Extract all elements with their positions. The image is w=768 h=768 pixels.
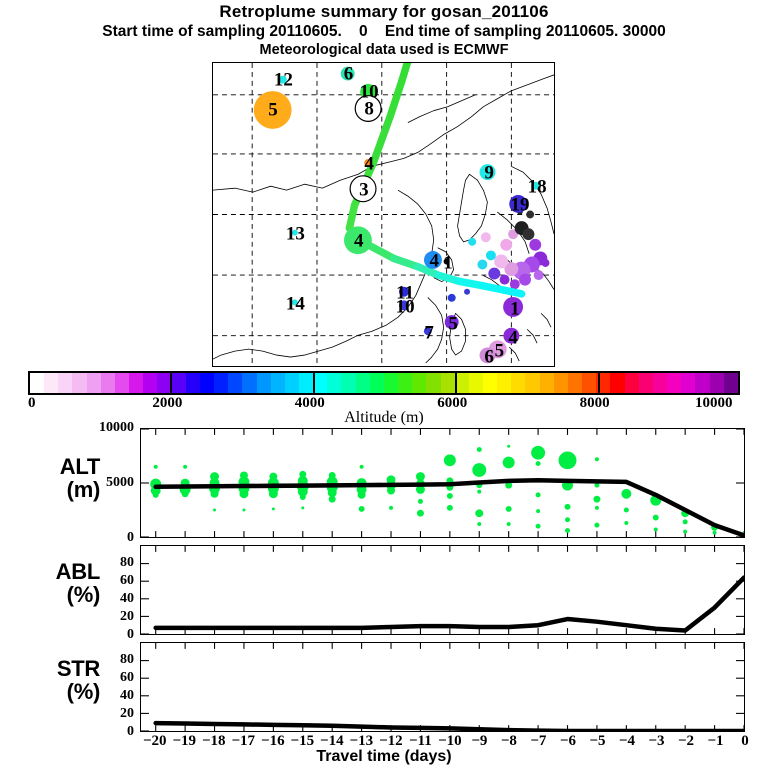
- x-axis-title: Travel time (days): [0, 748, 768, 766]
- x-axis-tick-label: −20: [143, 734, 167, 749]
- meteorological-data-line: Meteorological data used is ECMWF: [0, 41, 768, 59]
- colorbar-major-separator: [170, 371, 172, 395]
- colorbar-swatch: [625, 373, 639, 393]
- alt-y-tick-label: 5000: [78, 476, 134, 490]
- x-axis-tick-label: −2: [678, 734, 694, 749]
- str-x-ticks: [156, 643, 744, 731]
- alt-bubble: [536, 492, 541, 497]
- colorbar-swatch: [72, 373, 86, 393]
- alt-bubble: [593, 496, 600, 503]
- colorbar-swatch: [186, 373, 200, 393]
- colorbar-swatch: [143, 373, 157, 393]
- trajectory-segment: [394, 258, 418, 266]
- colorbar-swatch: [511, 373, 525, 393]
- colorbar-swatch: [497, 373, 511, 393]
- colorbar-swatch: [384, 373, 398, 393]
- str-y-tick-label: 0: [78, 725, 134, 739]
- alt-bubble: [654, 527, 658, 531]
- alt-bubble: [624, 521, 628, 525]
- map-marker-label: 14: [286, 294, 305, 313]
- colorbar-swatch: [285, 373, 299, 393]
- alt-bubble: [213, 509, 216, 512]
- alt-bubble: [506, 506, 512, 512]
- colorbar-swatch: [554, 373, 568, 393]
- colorbar-swatch: [710, 373, 724, 393]
- alt-bubble: [211, 490, 219, 498]
- map-marker-label: 5: [495, 342, 505, 361]
- plume-particle: [464, 289, 470, 295]
- header-block: Retroplume summary for gosan_201106 Star…: [0, 2, 768, 59]
- map-marker-label: 19: [510, 195, 529, 214]
- alt-bubble: [475, 509, 483, 517]
- plume-particle: [522, 228, 534, 240]
- colorbar-swatch: [228, 373, 242, 393]
- alt-bubble: [269, 489, 278, 498]
- colorbar-swatch: [101, 373, 115, 393]
- colorbar-swatch: [299, 373, 313, 393]
- plume-particle: [494, 255, 508, 269]
- colorbar-swatch: [667, 373, 681, 393]
- str-y-tick-label: 40: [78, 689, 134, 703]
- abl-y-tick-label: 20: [78, 610, 134, 624]
- alt-bubble: [621, 489, 631, 499]
- colorbar-swatch: [115, 373, 129, 393]
- sampling-time-line: Start time of sampling 20110605. 0 End t…: [0, 22, 768, 41]
- alt-bubble: [182, 490, 189, 497]
- colorbar-swatch: [257, 373, 271, 393]
- plume-particle: [477, 260, 487, 270]
- alt-bubble: [358, 491, 366, 499]
- colorbar-swatch: [525, 373, 539, 393]
- colorbar-major-separator: [313, 371, 315, 395]
- abl-line: [156, 578, 744, 631]
- alt-y-tick-label: 10000: [78, 421, 134, 435]
- altitude-colorbar[interactable]: [28, 371, 740, 395]
- map-marker-label: 7: [424, 323, 434, 342]
- alt-chart-canvas: [141, 429, 744, 537]
- colorbar-swatch: [412, 373, 426, 393]
- abl-timeseries-panel[interactable]: [140, 545, 745, 635]
- retroplume-map[interactable]: 1261085918431944111101754561314: [212, 62, 555, 367]
- alt-bubble: [595, 457, 599, 461]
- alt-bubble: [477, 522, 481, 526]
- x-axis-tick-label: −17: [232, 734, 256, 749]
- alt-bubble: [239, 489, 248, 498]
- colorbar-swatch: [724, 373, 738, 393]
- x-axis-tick-label: −12: [379, 734, 403, 749]
- plume-particle: [534, 270, 544, 280]
- plume-particle: [500, 275, 510, 285]
- colorbar-swatch: [469, 373, 483, 393]
- alt-bubble: [536, 461, 541, 466]
- colorbar-swatch: [313, 373, 327, 393]
- colorbar-major-separator: [598, 371, 600, 395]
- alt-bubble: [559, 451, 577, 469]
- colorbar-swatch: [582, 373, 596, 393]
- x-axis-tick-label: −14: [320, 734, 344, 749]
- abl-x-ticks: [156, 546, 744, 634]
- alt-bubble: [154, 465, 158, 469]
- alt-bubble: [507, 522, 511, 526]
- x-axis-tick-label: −7: [530, 734, 546, 749]
- alt-bubble: [472, 463, 486, 477]
- alt-bubble: [301, 506, 304, 509]
- colorbar-swatch: [214, 373, 228, 393]
- alt-bubble: [359, 506, 365, 512]
- map-marker-label: 18: [528, 177, 547, 196]
- alt-bubble: [565, 517, 570, 522]
- map-marker-label: 4: [364, 154, 374, 173]
- trajectory-segment: [505, 290, 522, 294]
- alt-bubble: [300, 494, 306, 500]
- str-chart-canvas: [141, 643, 744, 731]
- x-axis-tick-label: −11: [409, 734, 432, 749]
- trajectory-segment: [390, 80, 402, 116]
- colorbar-swatch: [271, 373, 285, 393]
- plume-particle: [448, 294, 456, 302]
- alt-bubble: [417, 510, 424, 517]
- alt-bubble: [653, 515, 659, 521]
- colorbar-swatch: [87, 373, 101, 393]
- map-marker-label: 10: [396, 298, 415, 317]
- alt-bubble: [595, 506, 599, 510]
- alt-bubble: [565, 504, 571, 510]
- map-marker-label: 4: [429, 252, 439, 271]
- plume-particle: [500, 239, 512, 251]
- alt-bubble: [477, 447, 482, 452]
- alt-bubble: [507, 445, 510, 448]
- colorbar-swatch: [483, 373, 497, 393]
- colorbar-swatch: [44, 373, 58, 393]
- str-y-tick-label: 60: [78, 671, 134, 685]
- alt-bubble: [531, 446, 545, 460]
- colorbar-swatch: [695, 373, 709, 393]
- map-marker-label: 12: [274, 70, 293, 89]
- str-y-tick-label: 80: [78, 653, 134, 667]
- colorbar-swatch: [30, 373, 44, 393]
- alt-bubble: [360, 465, 364, 469]
- alt-bubble: [594, 523, 599, 528]
- map-marker-label: 13: [286, 224, 305, 243]
- alt-bubble: [683, 519, 688, 524]
- colorbar-swatch: [341, 373, 355, 393]
- colorbar-swatch: [58, 373, 72, 393]
- x-axis-tick-label: −9: [471, 734, 487, 749]
- plume-particle: [481, 232, 491, 242]
- map-marker-label: 3: [359, 180, 369, 199]
- colorbar-swatch: [568, 373, 582, 393]
- x-axis-tick-label: −5: [589, 734, 605, 749]
- alt-bubble: [183, 465, 187, 469]
- colorbar-swatch: [653, 373, 667, 393]
- x-axis-tick-label: −1: [707, 734, 723, 749]
- alt-bubble: [536, 509, 540, 513]
- alt-bubble: [503, 457, 515, 469]
- colorbar-swatch: [172, 373, 186, 393]
- alt-bubble-layer: [150, 445, 744, 536]
- alt-bubble: [272, 507, 275, 510]
- plume-particle: [541, 259, 549, 267]
- alt-bubble: [153, 492, 159, 498]
- map-marker-label: 5: [448, 314, 458, 333]
- plume-particle: [468, 238, 476, 246]
- x-axis-tick-label: −19: [172, 734, 196, 749]
- plume-particle: [510, 279, 520, 289]
- map-marker-label: 5: [268, 101, 278, 120]
- colorbar-swatch: [129, 373, 143, 393]
- x-axis-tick-label: −18: [202, 734, 226, 749]
- alt-bubble: [387, 487, 395, 495]
- x-axis-tick-label: −13: [350, 734, 374, 749]
- colorbar-swatch: [398, 373, 412, 393]
- str-y-ticks: [141, 661, 744, 731]
- alt-bubble: [447, 493, 453, 499]
- map-marker-label: 6: [484, 348, 494, 367]
- map-marker-label: 1: [510, 299, 520, 318]
- marker-circle-layer: [254, 67, 539, 364]
- map-marker-label: 8: [364, 99, 374, 118]
- abl-y-ticks: [141, 564, 744, 634]
- colorbar-swatch: [681, 373, 695, 393]
- alt-y-tick-label: 0: [78, 531, 134, 545]
- x-axis-tick-label: −10: [438, 734, 462, 749]
- plume-particle: [488, 268, 500, 280]
- map-marker-label: 4: [354, 232, 364, 251]
- x-axis-tick-label: −16: [261, 734, 285, 749]
- map-marker-label: 6: [344, 64, 354, 83]
- map-marker-label: 4: [508, 328, 518, 347]
- colorbar-swatch: [200, 373, 214, 393]
- abl-chart-canvas: [141, 546, 744, 634]
- plume-particle: [486, 250, 496, 260]
- altitude-timeseries-panel[interactable]: [140, 428, 745, 538]
- trajectory-segment: [368, 245, 394, 259]
- colorbar-swatch: [356, 373, 370, 393]
- colorbar-swatch: [370, 373, 384, 393]
- x-axis-tick-label: 0: [741, 734, 749, 749]
- alt-bubble: [329, 496, 336, 503]
- colorbar-major-separator: [455, 371, 457, 395]
- alt-bubble: [447, 505, 453, 511]
- x-axis-tick-label: −3: [648, 734, 664, 749]
- abl-y-tick-label: 60: [78, 574, 134, 588]
- alt-bubble: [418, 499, 423, 504]
- alt-bubble: [536, 524, 541, 529]
- alt-bubble: [713, 531, 717, 535]
- plume-particle: [529, 239, 541, 251]
- alt-bubble: [444, 454, 456, 466]
- colorbar-swatch: [426, 373, 440, 393]
- alt-label-line1: ALT: [8, 455, 100, 478]
- alt-bubble: [624, 508, 629, 513]
- colorbar-gradient: [28, 371, 740, 395]
- str-timeseries-panel[interactable]: [140, 642, 745, 732]
- x-axis-tick-label: −8: [501, 734, 517, 749]
- abl-y-tick-label: 40: [78, 592, 134, 606]
- colorbar-swatch: [327, 373, 341, 393]
- colorbar-swatch: [610, 373, 624, 393]
- colorbar-swatch: [441, 373, 455, 393]
- alt-bubble: [389, 506, 393, 510]
- alt-bubble: [683, 530, 687, 534]
- map-marker-label: 9: [484, 163, 494, 182]
- alt-bubble: [565, 528, 570, 533]
- x-axis-tick-label: −4: [619, 734, 635, 749]
- map-canvas: [213, 63, 554, 366]
- colorbar-swatch: [242, 373, 256, 393]
- plume-particle: [519, 274, 531, 286]
- alt-bubble: [477, 490, 481, 494]
- x-axis-tick-label: −6: [560, 734, 576, 749]
- page-title: Retroplume summary for gosan_201106: [0, 2, 768, 22]
- colorbar-swatch: [639, 373, 653, 393]
- str-y-tick-label: 20: [78, 707, 134, 721]
- alt-bubble: [566, 463, 569, 466]
- abl-y-tick-label: 0: [78, 628, 134, 642]
- abl-y-tick-label: 80: [78, 556, 134, 570]
- colorbar-swatch: [540, 373, 554, 393]
- map-marker-label: 1: [443, 253, 453, 272]
- x-axis-tick-label: −15: [291, 734, 315, 749]
- alt-bubble: [242, 509, 245, 512]
